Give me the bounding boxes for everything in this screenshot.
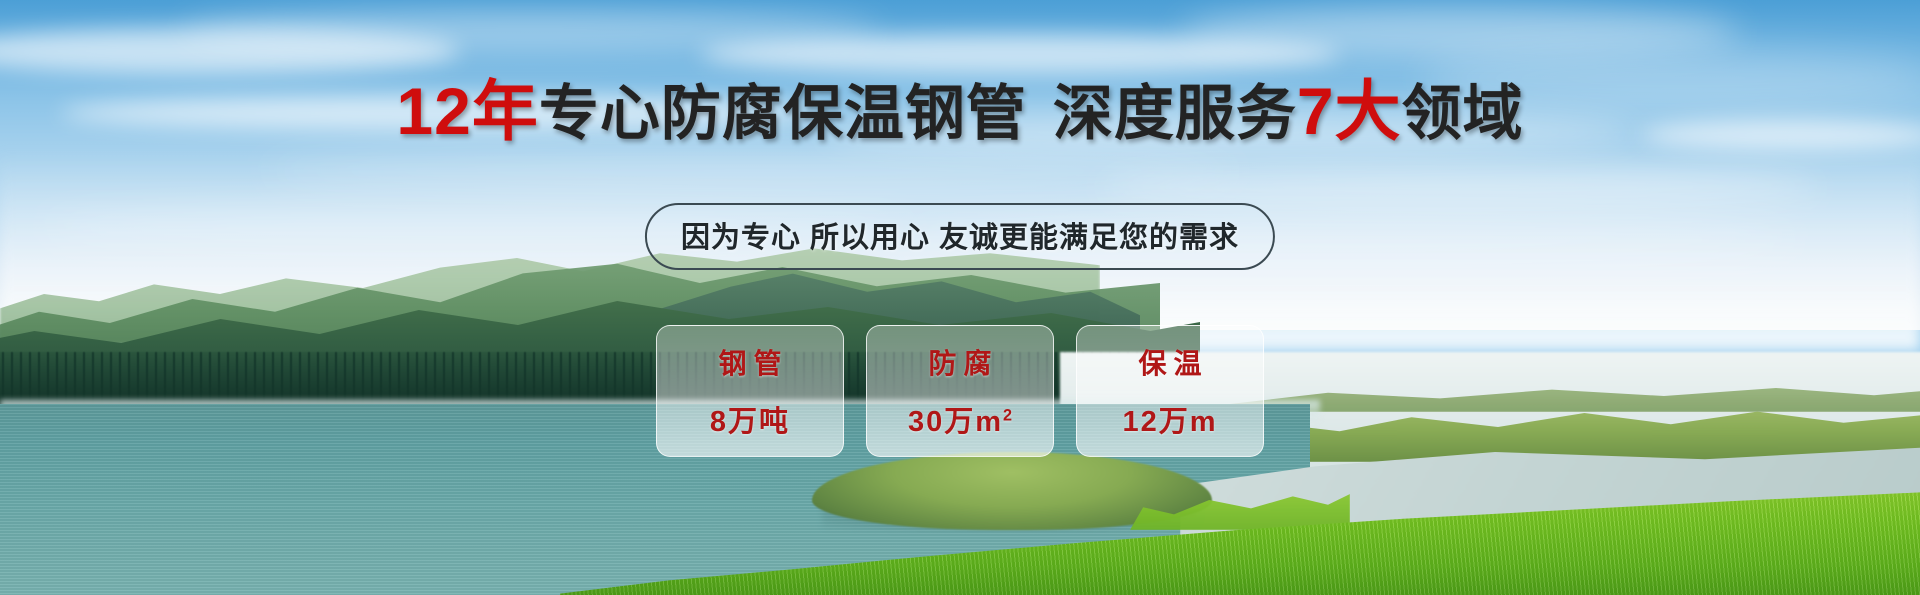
- stat-card-value: 12万m: [1122, 398, 1217, 440]
- stat-card-steel-pipe: 钢管 8万吨: [656, 325, 844, 457]
- headline-fields: 领域: [1402, 80, 1524, 147]
- stat-card-insulation: 保温 12万m: [1076, 325, 1264, 457]
- headline-service: 深度服务: [1053, 80, 1297, 147]
- stat-card-title: 防腐: [921, 342, 998, 382]
- stat-card-value: 8万吨: [710, 398, 790, 440]
- stat-card-group: 钢管 8万吨 防腐 30万m2 保温 12万m: [656, 325, 1264, 457]
- stat-value-text: 30万m: [908, 406, 1003, 438]
- stat-card-title: 钢管: [711, 342, 788, 382]
- stat-value-text: 12万m: [1122, 406, 1217, 438]
- headline-fields-num: 7大: [1297, 74, 1402, 148]
- stat-value-superscript: 2: [1003, 406, 1012, 424]
- stat-card-value: 30万m2: [908, 398, 1012, 440]
- stat-value-text: 8万吨: [710, 406, 790, 438]
- promo-banner: 12年专心防腐保温钢管深度服务7大领域 因为专心 所以用心 友诚更能满足您的需求…: [0, 0, 1920, 595]
- banner-subtitle-text: 因为专心 所以用心 友诚更能满足您的需求: [681, 222, 1239, 254]
- banner-subtitle-pill: 因为专心 所以用心 友诚更能满足您的需求: [645, 203, 1275, 270]
- stat-card-title: 保温: [1131, 342, 1208, 382]
- headline-main: 专心防腐保温钢管: [539, 80, 1027, 147]
- stat-card-anticorrosion: 防腐 30万m2: [866, 325, 1054, 457]
- banner-headline: 12年专心防腐保温钢管深度服务7大领域: [0, 78, 1920, 144]
- headline-years: 12年: [396, 74, 538, 148]
